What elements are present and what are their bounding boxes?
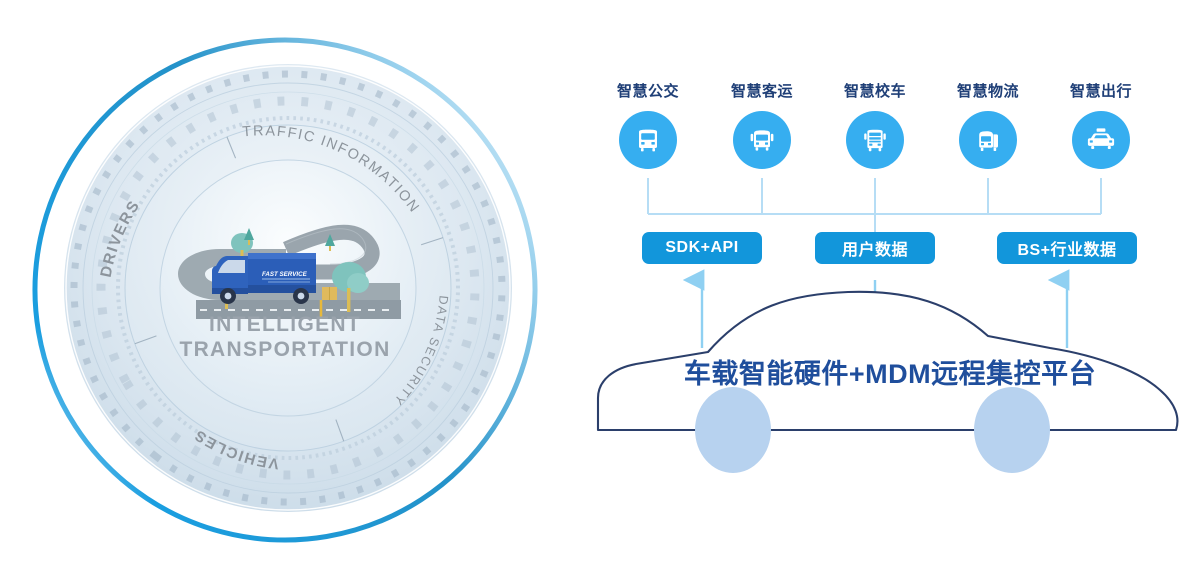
node-label-smart-school-bus: 智慧校车 [815,80,935,101]
infographic-canvas: DRIVERS TRAFFIC INFORMATION DATA SECURIT… [0,0,1200,564]
node-label-smart-mobility: 智慧出行 [1041,80,1161,101]
platform-title: 车载智能硬件+MDM远程集控平台 [620,352,1160,391]
pill-label-user-data: 用户数据 [842,236,908,260]
node-smart-mobility[interactable]: 智慧出行 [1041,80,1161,169]
wheel-center-title: INTELLIGENT TRANSPORTATION [150,312,420,362]
truck-icon[interactable] [959,111,1017,169]
wheel-graphic: DRIVERS TRAFFIC INFORMATION DATA SECURIT… [0,0,580,564]
node-smart-school-bus[interactable]: 智慧校车 [815,80,935,169]
parcel-box [322,287,337,300]
node-smart-bus[interactable]: 智慧公交 [588,80,708,169]
school-bus-icon[interactable] [846,111,904,169]
icon-bus-connectors [648,178,1101,232]
pill-label-sdk-api: SDK+API [665,239,738,257]
pill-label-bs-industry-data: BS+行业数据 [1017,236,1116,260]
taxi-icon[interactable] [1072,111,1130,169]
pill-user-data[interactable]: 用户数据 [815,232,935,264]
node-label-smart-logistics: 智慧物流 [928,80,1048,101]
coach-bus-icon[interactable] [733,111,791,169]
pill-bs-industry-data[interactable]: BS+行业数据 [997,232,1137,264]
intelligent-transportation-wheel: DRIVERS TRAFFIC INFORMATION DATA SECURIT… [0,0,580,564]
pill-sdk-api[interactable]: SDK+API [642,232,762,264]
center-title-line1: INTELLIGENT [150,312,420,337]
node-smart-logistics[interactable]: 智慧物流 [928,80,1048,169]
truck-decal: FAST SERVICE [262,271,308,278]
node-smart-coach[interactable]: 智慧客运 [702,80,822,169]
node-label-smart-bus: 智慧公交 [588,80,708,101]
node-label-smart-coach: 智慧客运 [702,80,822,101]
bus-icon[interactable] [619,111,677,169]
car-wheel-rear [974,387,1050,473]
platform-flow-diagram: 智慧公交 智慧客运 [580,0,1200,564]
center-title-line2: TRANSPORTATION [150,337,420,362]
car-wheel-front [695,387,771,473]
